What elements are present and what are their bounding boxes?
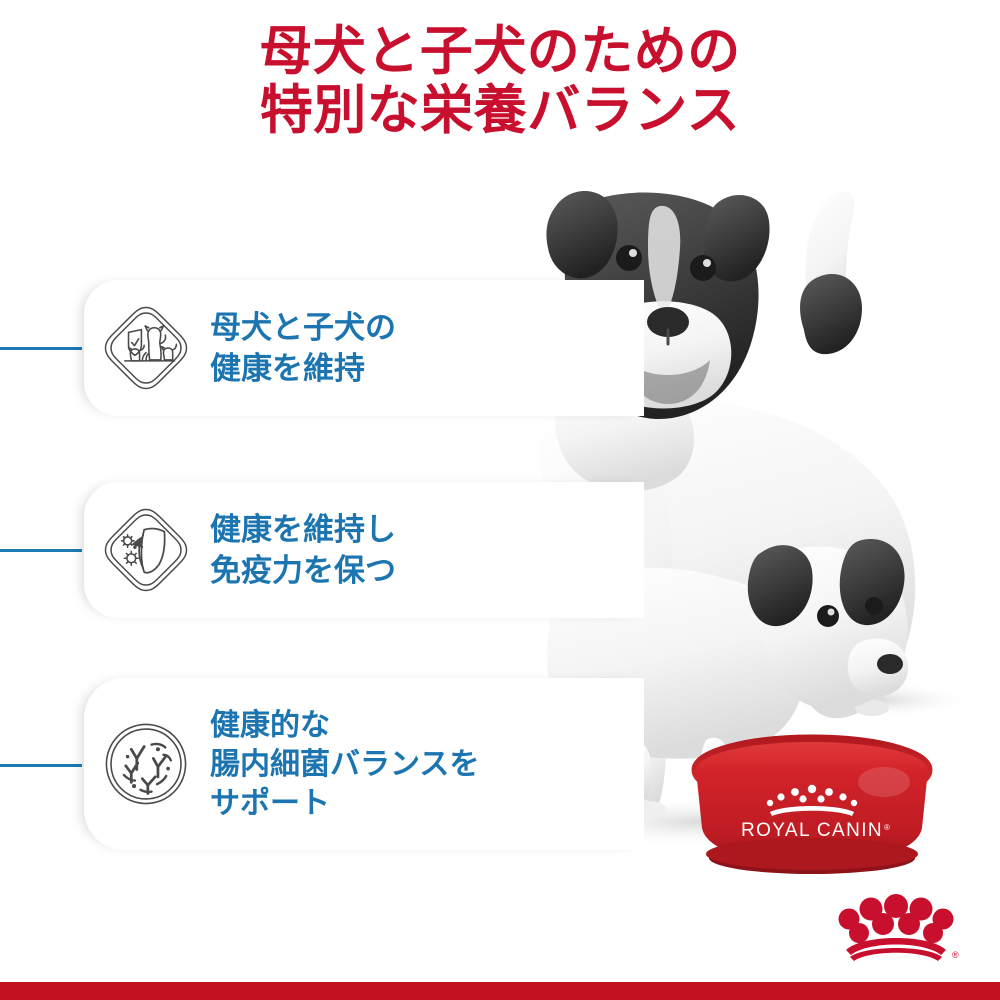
gut-microbiome-icon: [98, 716, 194, 812]
feature-connector-line-2: [0, 549, 82, 552]
feature-label-2-line-2: 免疫力を保つ: [210, 550, 396, 591]
feature-label-2: 健康を維持し 免疫力を保つ: [210, 509, 396, 591]
feature-label-3-line-3: サポート: [210, 784, 479, 823]
feature-label-3-line-1: 健康的な: [210, 706, 479, 745]
kibble: [739, 742, 889, 786]
immunity-shield-germs-icon: [98, 502, 194, 598]
promo-banner: 母犬と子犬のための 特別な栄養バランス: [0, 0, 1000, 1000]
page-title-line-1: 母犬と子犬のための: [0, 22, 1000, 81]
feature-label-2-line-1: 健康を維持し: [210, 509, 396, 550]
royal-canin-crown-logo: ®: [832, 892, 960, 964]
feature-card-3[interactable]: 健康的な 腸内細菌バランスを サポート: [84, 678, 644, 850]
feature-connector-line-3: [0, 764, 82, 767]
royal-canin-food-bowl: ROYAL CANIN ®: [696, 739, 928, 874]
kibble-highlight: [779, 746, 858, 762]
feature-label-1: 母犬と子犬の 健康を維持: [210, 307, 396, 389]
bowl-trademark: ®: [884, 823, 890, 832]
feature-connector-line-1: [0, 347, 82, 350]
feature-label-3: 健康的な 腸内細菌バランスを サポート: [210, 706, 479, 823]
feature-label-1-line-1: 母犬と子犬の: [210, 307, 396, 348]
feature-card-1[interactable]: 母犬と子犬の 健康を維持: [84, 280, 644, 416]
dog-family-shield-icon: [98, 300, 194, 396]
bowl-crown-icon: [767, 785, 857, 816]
feature-label-3-line-2: 腸内細菌バランスを: [210, 745, 479, 784]
bowl-brand-text: ROYAL CANIN: [741, 820, 883, 841]
page-title-line-2: 特別な栄養バランス: [0, 81, 1000, 140]
feature-label-1-line-2: 健康を維持: [210, 348, 396, 389]
page-title: 母犬と子犬のための 特別な栄養バランス: [0, 22, 1000, 141]
bottom-red-bar: [0, 982, 1000, 1000]
registered-trademark-mark: ®: [952, 950, 959, 960]
feature-card-2[interactable]: 健康を維持し 免疫力を保つ: [84, 482, 644, 618]
